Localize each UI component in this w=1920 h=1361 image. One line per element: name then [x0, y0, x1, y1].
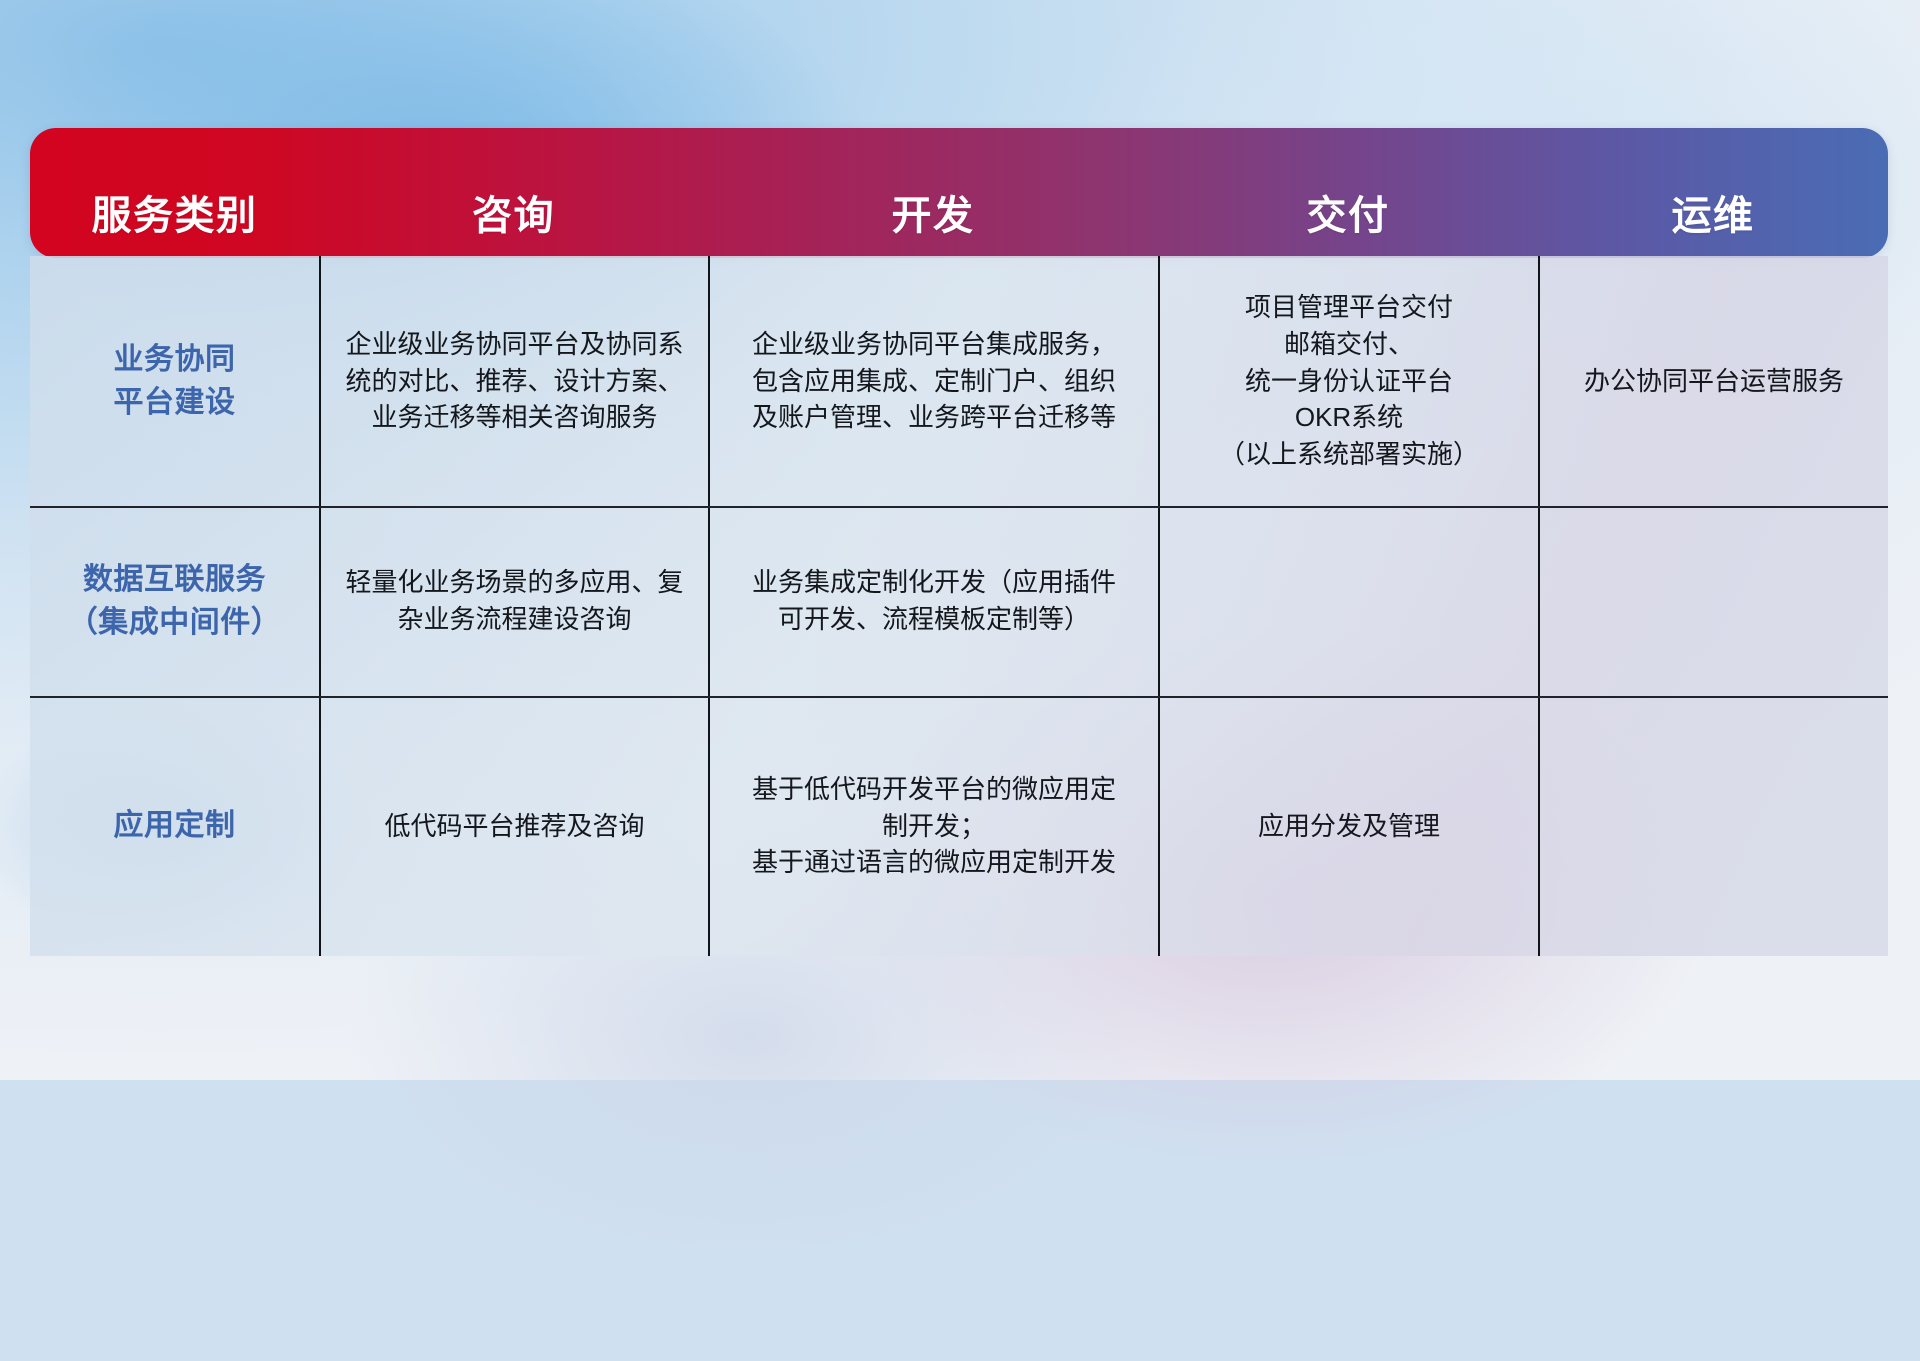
row-label-data-integration: 数据互联服务 （集成中间件）	[30, 506, 319, 696]
service-matrix-table: 服务类别 咨询 开发 交付 运维 业务协同 平台建设 数据互联服务 （集成中间件…	[30, 128, 1888, 958]
cell-operations-data-integration	[1540, 506, 1888, 696]
cell-delivery-collab-platform: 项目管理平台交付 邮箱交付、 统一身份认证平台 OKR系统 （以上系统部署实施）	[1160, 256, 1538, 506]
cell-development-data-integration: 业务集成定制化开发（应用插件 可开发、流程模板定制等）	[710, 506, 1158, 696]
cell-delivery-app-customization: 应用分发及管理	[1160, 696, 1538, 956]
cell-consulting-collab-platform: 企业级业务协同平台及协同系 统的对比、推荐、设计方案、 业务迁移等相关咨询服务	[321, 256, 708, 506]
table-column-consulting: 企业级业务协同平台及协同系 统的对比、推荐、设计方案、 业务迁移等相关咨询服务 …	[319, 256, 708, 956]
row-label-collab-platform: 业务协同 平台建设	[30, 256, 319, 506]
cell-consulting-data-integration: 轻量化业务场景的多应用、复 杂业务流程建设咨询	[321, 506, 708, 696]
table-header-consulting: 咨询	[319, 196, 708, 258]
table-header-delivery: 交付	[1158, 196, 1538, 258]
cell-consulting-app-customization: 低代码平台推荐及咨询	[321, 696, 708, 956]
row-separator-2	[30, 696, 1888, 698]
table-column-development: 企业级业务协同平台集成服务， 包含应用集成、定制门户、组织 及账户管理、业务跨平…	[708, 256, 1158, 956]
cell-operations-collab-platform: 办公协同平台运营服务	[1540, 256, 1888, 506]
cell-operations-app-customization	[1540, 696, 1888, 956]
table-header-operations: 运维	[1538, 196, 1888, 258]
table-header-bar: 服务类别 咨询 开发 交付 运维	[30, 128, 1888, 258]
table-column-delivery: 项目管理平台交付 邮箱交付、 统一身份认证平台 OKR系统 （以上系统部署实施）…	[1158, 256, 1538, 956]
table-grid: 业务协同 平台建设 数据互联服务 （集成中间件） 应用定制 企业级业务协同平台及…	[30, 256, 1888, 956]
cell-development-collab-platform: 企业级业务协同平台集成服务， 包含应用集成、定制门户、组织 及账户管理、业务跨平…	[710, 256, 1158, 506]
cell-delivery-data-integration	[1160, 506, 1538, 696]
table-column-category: 业务协同 平台建设 数据互联服务 （集成中间件） 应用定制	[30, 256, 319, 956]
table-body: 业务协同 平台建设 数据互联服务 （集成中间件） 应用定制 企业级业务协同平台及…	[30, 256, 1888, 956]
table-column-operations: 办公协同平台运营服务	[1538, 256, 1888, 956]
table-header-category: 服务类别	[30, 196, 319, 258]
row-label-app-customization: 应用定制	[30, 696, 319, 956]
row-separator-1	[30, 506, 1888, 508]
table-header-development: 开发	[708, 196, 1158, 258]
cell-development-app-customization: 基于低代码开发平台的微应用定 制开发； 基于通过语言的微应用定制开发	[710, 696, 1158, 956]
